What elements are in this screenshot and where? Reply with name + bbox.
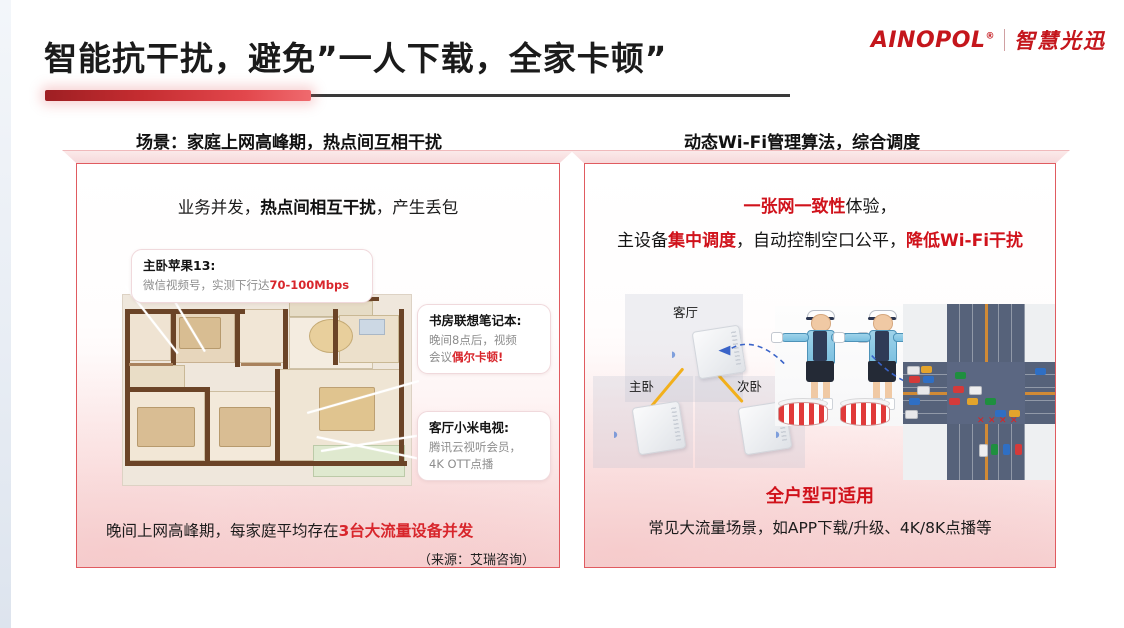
sim-block-marker: ✕ <box>977 416 985 425</box>
sim-car <box>979 444 988 457</box>
police-podium <box>778 402 828 426</box>
sim-car <box>949 398 960 405</box>
traffic-intersection-image: ✕ ✕ ✕ ✕ <box>903 304 1056 480</box>
callout-master-bedroom-iphone: 主卧苹果13: 微信视频号，实测下行达70-100Mbps <box>131 249 373 303</box>
callout-line2-highlight: 偶尔卡顿! <box>452 350 503 364</box>
title-underline-accent <box>45 90 311 101</box>
wifi-signal-icon: ◗ <box>669 346 678 363</box>
right-panel: 一张网一致性体验， 主设备集中调度，自动控制空口公平，降低Wi-Fi干扰 客厅 … <box>570 150 1070 568</box>
fp-wall <box>129 363 173 366</box>
fp-sofa <box>319 387 375 431</box>
right-headline-red3: 降低Wi-Fi干扰 <box>906 231 1023 251</box>
slide-canvas: 智能抗干扰，避免”一人下载，全家卡顿” AINOPOL® 智慧光迅 场景：家庭上… <box>0 0 1124 628</box>
sim-car <box>1015 444 1022 455</box>
room-label-master: 主卧 <box>629 376 654 395</box>
right-headline-b: ，自动控制空口公平， <box>736 231 906 251</box>
fp-wall <box>333 309 338 365</box>
police-vest <box>813 331 827 361</box>
sim-car <box>921 366 932 373</box>
left-footer-highlight: 3台大流量设备并发 <box>339 522 474 540</box>
router-living-room <box>692 325 747 380</box>
room-label-second: 次卧 <box>737 376 762 395</box>
callout-study-laptop: 书房联想笔记本: 晚间8点后，视频 会议偶尔卡顿! <box>417 304 551 374</box>
left-footer-text: 晚间上网高峰期，每家庭平均存在3台大流量设备并发 <box>97 519 539 541</box>
right-panel-body: 一张网一致性体验， 主设备集中调度，自动控制空口公平，降低Wi-Fi干扰 客厅 … <box>584 163 1056 568</box>
page-title: 智能抗干扰，避免”一人下载，全家卡顿” <box>44 32 667 80</box>
wifi-signal-icon: ◗ <box>773 426 782 443</box>
sim-block-marker: ✕ <box>1010 416 1018 425</box>
fp-wall <box>235 309 240 367</box>
police-podium <box>840 402 890 426</box>
fp-dining-table <box>309 319 353 353</box>
sim-car <box>923 376 934 383</box>
sim-car <box>953 386 964 393</box>
sim-car <box>1035 368 1046 375</box>
police-arm-left <box>843 333 871 342</box>
left-headline-part1: 业务并发， <box>178 198 261 217</box>
registered-icon: ® <box>986 31 996 41</box>
callout-sub-text: 微信视频号，实测下行达 <box>143 278 270 292</box>
sim-car <box>985 398 996 405</box>
sim-car <box>909 398 920 405</box>
callout-line2: 会议偶尔卡顿! <box>429 349 539 366</box>
police-skirt <box>868 361 896 382</box>
fp-bed <box>219 407 271 447</box>
sim-car <box>905 410 918 419</box>
logo-wordmark: AINOPOL® <box>871 28 995 53</box>
callout-line2-text: 会议 <box>429 350 452 364</box>
callout-subtitle: 微信视频号，实测下行达70-100Mbps <box>143 277 361 294</box>
sim-car <box>1003 444 1010 455</box>
callout-sub-highlight: 70-100Mbps <box>270 278 350 292</box>
fp-wall <box>171 309 176 365</box>
right-headline-a: 主设备 <box>617 231 668 251</box>
fp-wall <box>205 387 210 465</box>
sim-car <box>967 398 978 405</box>
callout-line1: 腾讯云视听会员， <box>429 439 539 456</box>
wifi-signal-icon: ◗ <box>611 426 620 443</box>
police-vest <box>875 331 889 361</box>
fp-room <box>239 309 285 363</box>
police-glove-left <box>833 332 845 343</box>
callout-living-room-tv: 客厅小米电视: 腾讯云视听会员， 4K OTT点播 <box>417 411 551 481</box>
right-footer-highlight: 全户型可适用 <box>585 482 1055 508</box>
room-label-living: 客厅 <box>673 302 698 321</box>
sim-block-marker: ✕ <box>988 416 996 425</box>
fp-wall <box>283 309 288 369</box>
right-headline-red2: 集中调度 <box>668 231 736 251</box>
sim-car <box>907 366 920 375</box>
logo-wordmark-text: AINOPOL <box>871 28 986 53</box>
right-footer-text: 常见大流量场景，如APP下载/升级、4K/8K点播等 <box>585 516 1055 538</box>
callout-line1: 晚间8点后，视频 <box>429 332 539 349</box>
callout-title: 主卧苹果13: <box>143 257 361 275</box>
left-footer-source: （来源：艾瑞咨询） <box>418 549 535 568</box>
left-headline-part2: ，产生丢包 <box>376 198 459 217</box>
floor-plan-image <box>122 294 412 486</box>
brand-logo: AINOPOL® 智慧光迅 <box>871 25 1106 55</box>
right-headline-black1: 体验， <box>846 197 897 217</box>
router-master-bedroom <box>632 401 687 456</box>
left-panel-body: 业务并发，热点间相互干扰，产生丢包 <box>76 163 560 568</box>
police-skirt <box>806 361 834 382</box>
left-panel: 业务并发，热点间相互干扰，产生丢包 <box>62 150 574 568</box>
fp-wall <box>275 369 280 465</box>
right-headline-line2: 主设备集中调度，自动控制空口公平，降低Wi-Fi干扰 <box>585 226 1055 251</box>
logo-chinese-name: 智慧光迅 <box>1014 25 1106 55</box>
left-headline-bold: 热点间相互干扰 <box>260 198 376 217</box>
fp-bed <box>137 407 195 447</box>
callout-title: 书房联想笔记本: <box>429 312 539 330</box>
left-headline: 业务并发，热点间相互干扰，产生丢包 <box>77 194 559 218</box>
police-glove-left <box>771 332 783 343</box>
sim-block-marker: ✕ <box>999 416 1007 425</box>
fp-wall <box>125 461 407 466</box>
sim-car <box>991 444 998 455</box>
sim-car <box>909 376 920 383</box>
fp-wall <box>125 387 209 392</box>
right-headline-red1: 一张网一致性 <box>744 197 846 217</box>
fp-wall <box>241 363 281 366</box>
sim-car <box>917 386 930 395</box>
logo-divider <box>1004 29 1005 51</box>
sim-car <box>969 386 982 395</box>
fp-kitchen-unit <box>359 319 385 335</box>
left-footer-plain: 晚间上网高峰期，每家庭平均存在 <box>106 522 339 540</box>
police-arm-left <box>781 333 809 342</box>
left-edge-rail <box>0 0 11 628</box>
callout-title: 客厅小米电视: <box>429 419 539 437</box>
right-headline-line1: 一张网一致性体验， <box>585 192 1055 217</box>
callout-line2: 4K OTT点播 <box>429 456 539 473</box>
traffic-police-illustration <box>775 306 915 426</box>
sim-car <box>955 372 966 379</box>
